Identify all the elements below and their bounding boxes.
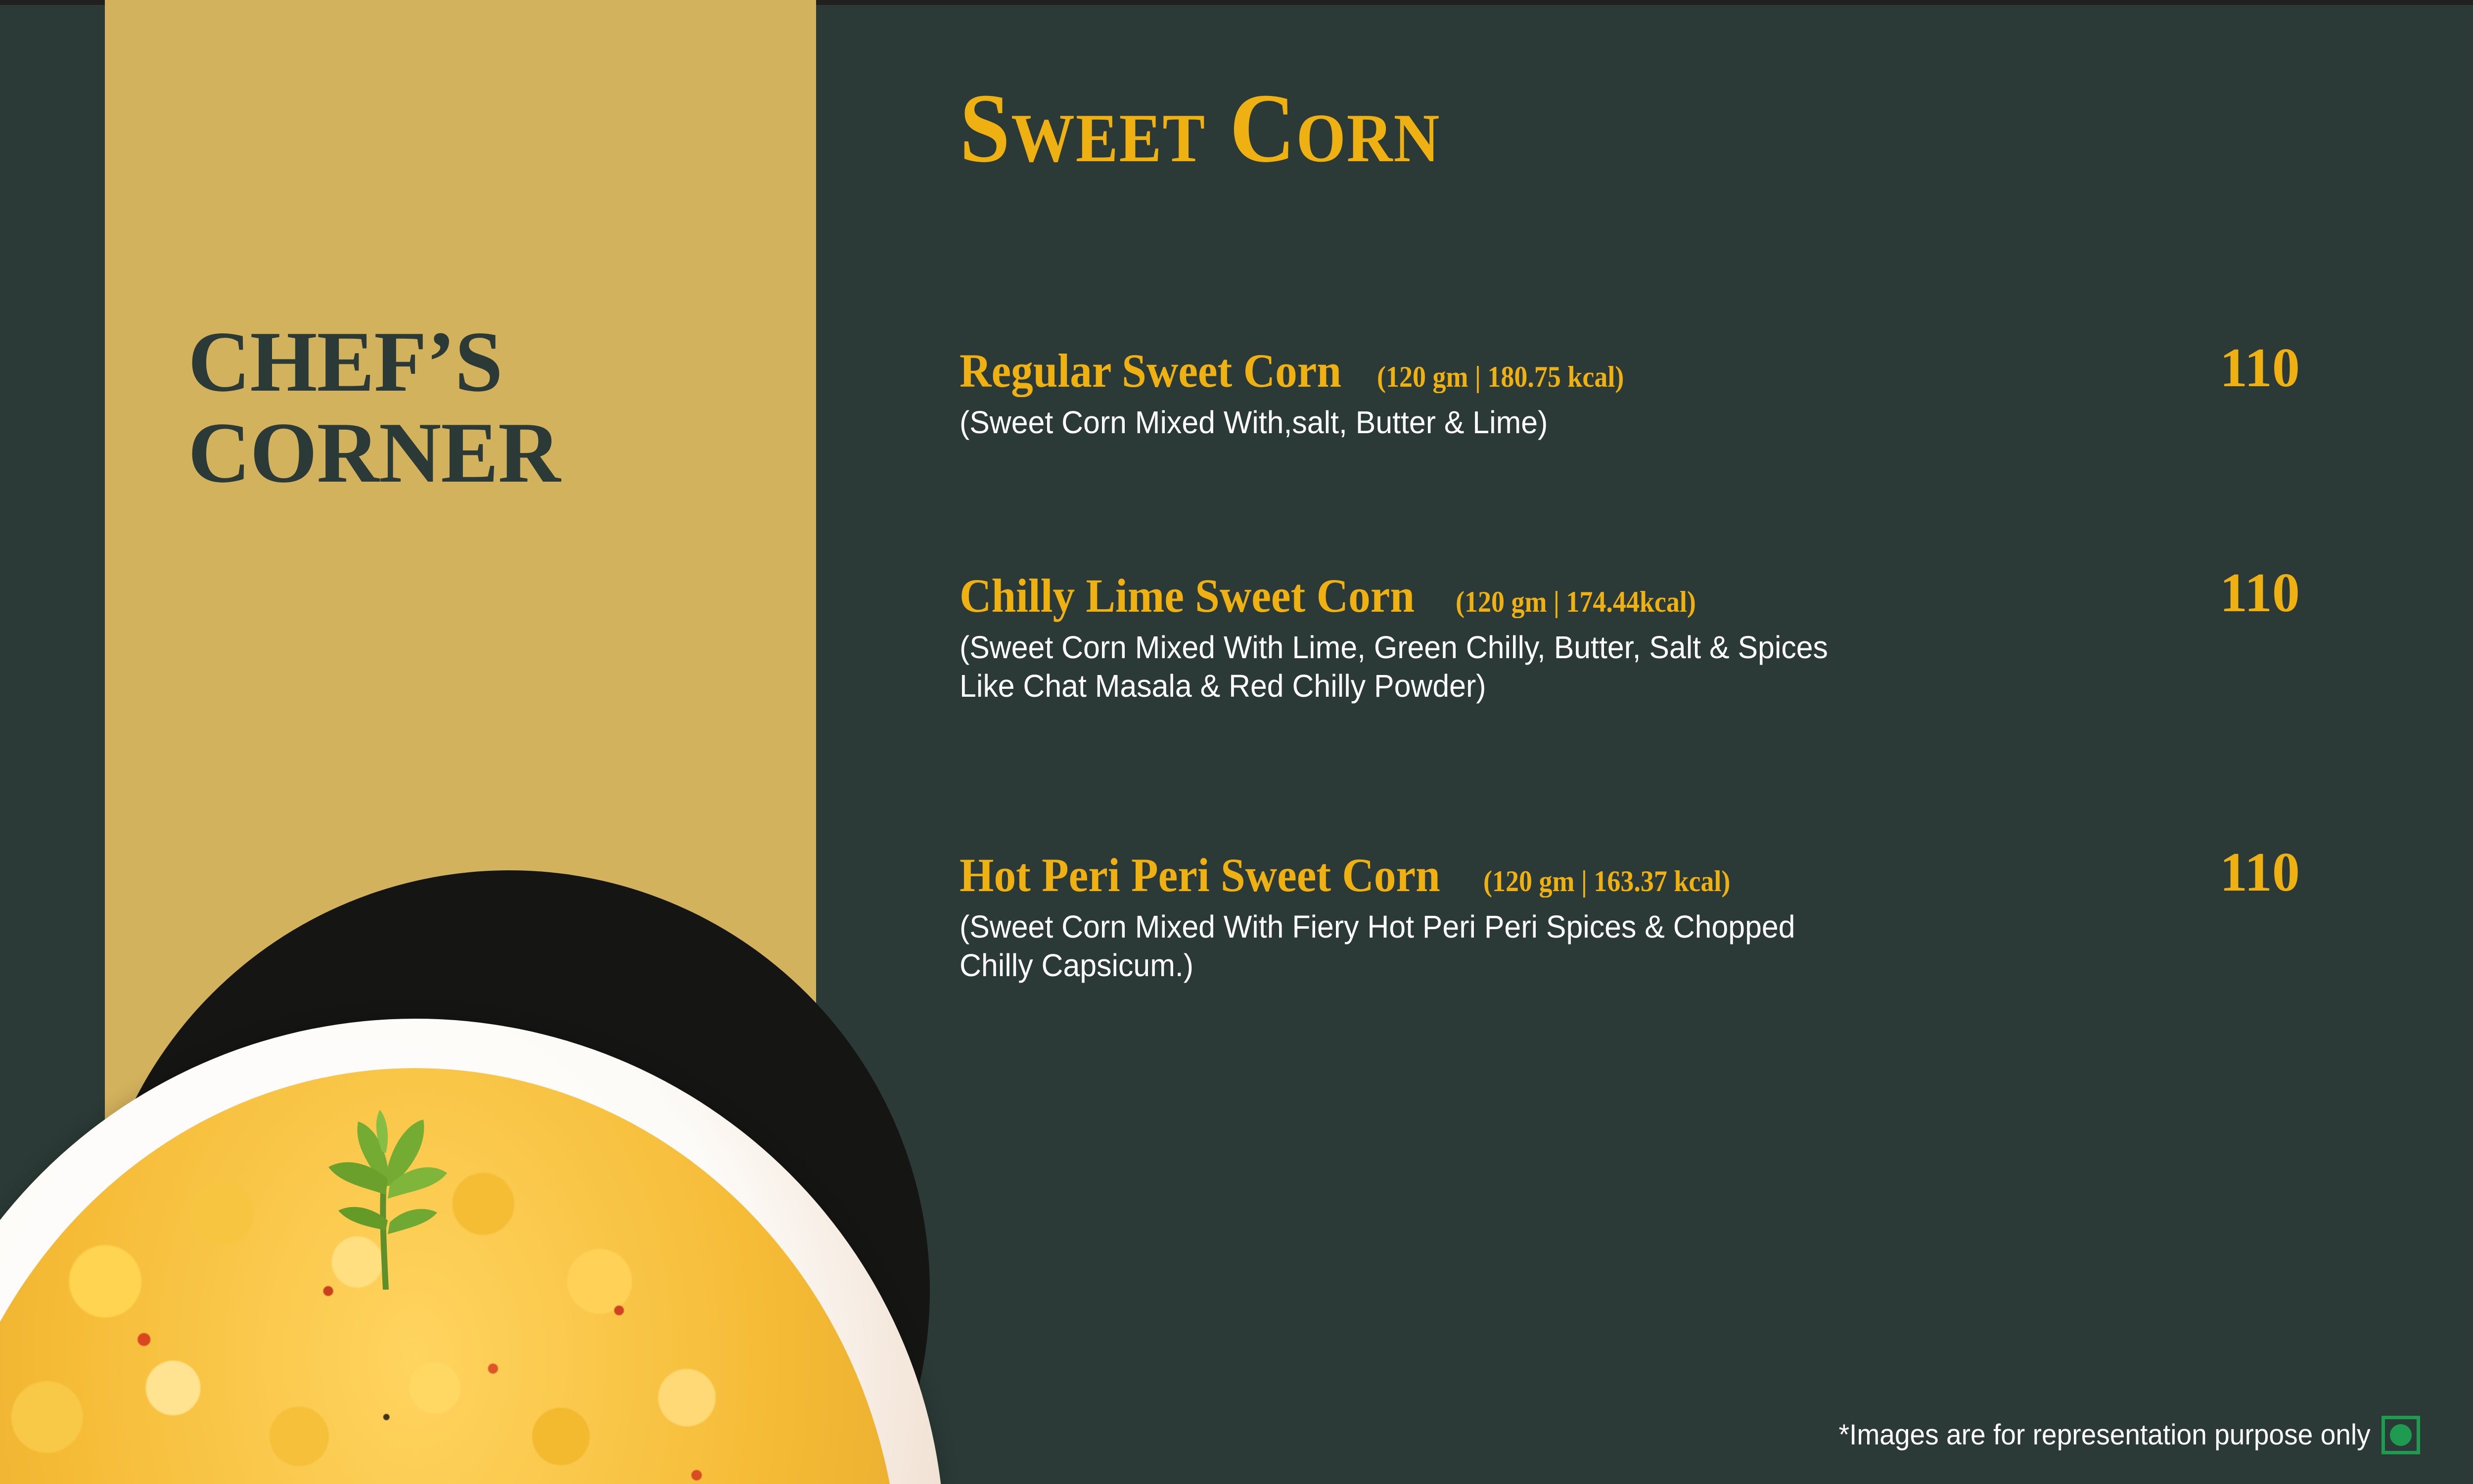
menu-item-name: Chilly Lime Sweet Corn <box>960 571 1415 621</box>
veg-dot <box>2390 1424 2412 1446</box>
menu-item[interactable]: Hot Peri Peri Sweet Corn (120 gm | 163.3… <box>960 851 2473 985</box>
veg-indicator-icon <box>2381 1416 2420 1454</box>
menu-content: Sweet Corn Regular Sweet Corn (120 gm | … <box>960 0 2473 1484</box>
menu-item-portion-calories: (120 gm | 163.37 kcal) <box>1483 866 1730 896</box>
menu-item-description: (Sweet Corn Mixed With Fiery Hot Peri Pe… <box>960 907 2144 985</box>
menu-board: CHEF’S CORNER Sweet Corn Regular Sweet C… <box>0 0 2473 1484</box>
page-title: Sweet Corn <box>960 79 1440 178</box>
menu-item-description: (Sweet Corn Mixed With,salt, Butter & Li… <box>960 403 2144 442</box>
menu-item[interactable]: Chilly Lime Sweet Corn (120 gm | 174.44k… <box>960 571 2473 705</box>
menu-item-portion-calories: (120 gm | 174.44kcal) <box>1456 587 1696 617</box>
brand-logo: CHEF’S CORNER <box>188 316 781 498</box>
disclaimer-text: *Images are for representation purpose o… <box>1839 1421 2371 1449</box>
menu-item-price: 110 <box>2220 565 2300 621</box>
menu-item-price: 110 <box>2220 845 2300 900</box>
menu-item-portion-calories: (120 gm | 180.75 kcal) <box>1377 362 1624 392</box>
brand-line-1: CHEF’S <box>188 316 781 407</box>
menu-item[interactable]: Regular Sweet Corn (120 gm | 180.75 kcal… <box>960 346 2473 442</box>
menu-item-price: 110 <box>2220 340 2300 396</box>
footer: *Images are for representation purpose o… <box>1811 1416 2420 1454</box>
menu-item-name: Regular Sweet Corn <box>960 346 1341 396</box>
menu-item-description: (Sweet Corn Mixed With Lime, Green Chill… <box>960 628 2144 705</box>
brand-panel <box>105 0 816 1133</box>
brand-line-2: CORNER <box>188 407 781 498</box>
menu-item-name: Hot Peri Peri Sweet Corn <box>960 851 1440 900</box>
